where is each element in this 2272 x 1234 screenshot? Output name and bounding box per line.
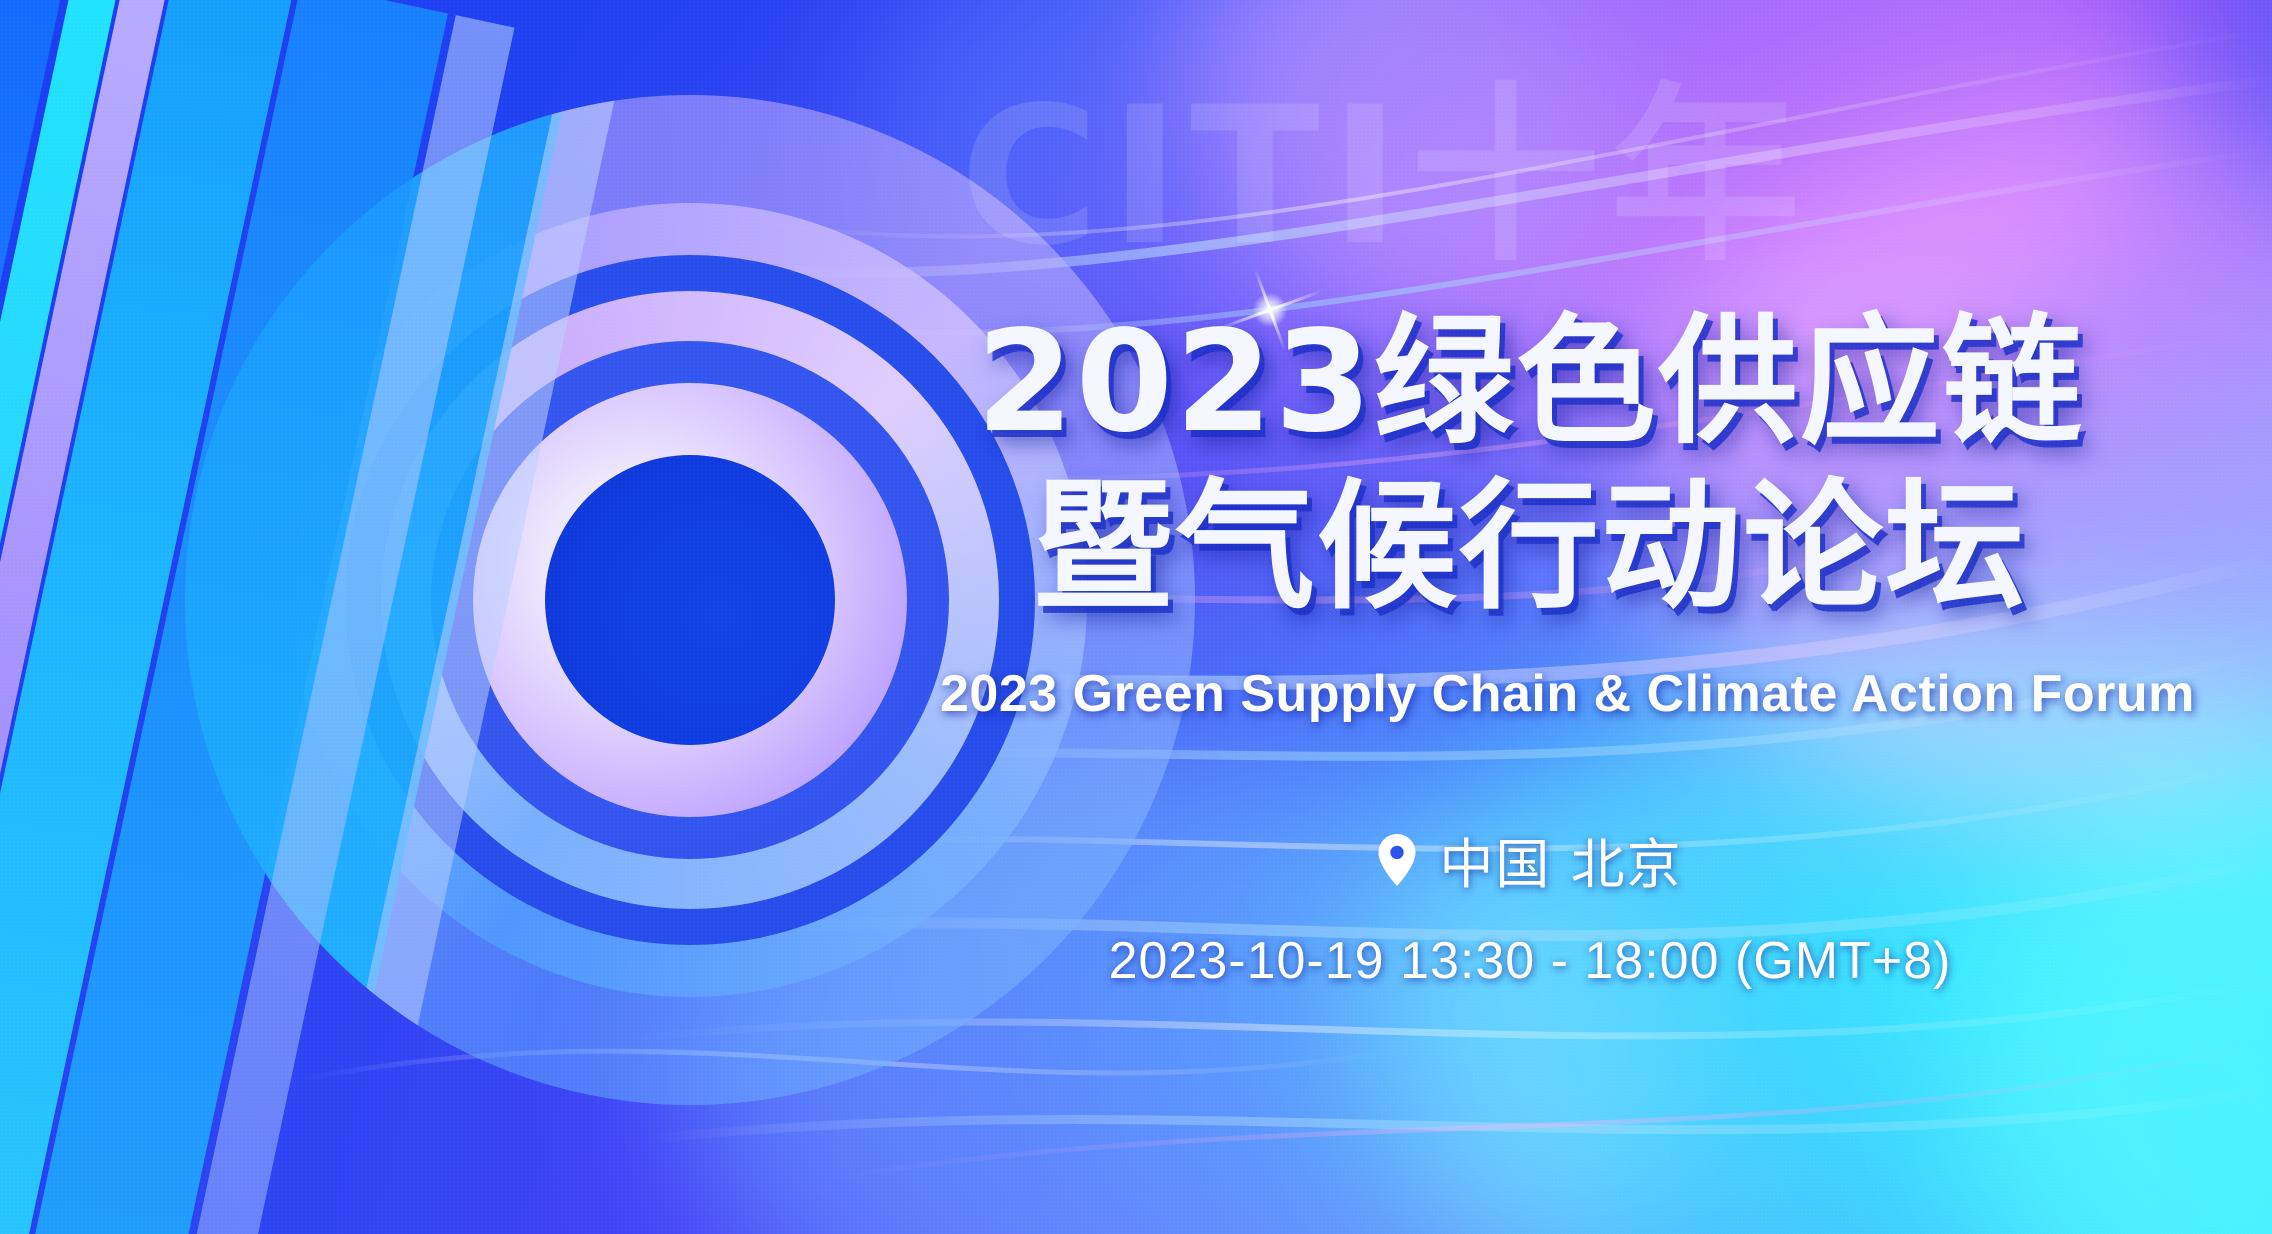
venue-label: 中国 北京 bbox=[1439, 820, 1682, 899]
page-title-line-1: 2023绿色供应链 bbox=[940, 300, 2120, 465]
page-subtitle: 2023 Green Supply Chain & Climate Action… bbox=[940, 664, 2120, 724]
event-datetime: 2023-10-19 13:30 - 18:00 (GMT+8) bbox=[940, 931, 2120, 991]
page-title-line-2: 暨气候行动论坛 bbox=[940, 465, 2120, 630]
poster-content: 2023绿色供应链 暨气候行动论坛 2023 Green Supply Chai… bbox=[940, 300, 2120, 991]
event-meta: 中国 北京 2023-10-19 13:30 - 18:00 (GMT+8) bbox=[940, 820, 2120, 991]
map-pin-icon bbox=[1377, 834, 1417, 886]
event-poster: CITI十年 2023绿色供应链 暨气候行动论坛 2023 Green Supp… bbox=[0, 0, 2272, 1234]
watermark-text: CITI十年 bbox=[960, 82, 1810, 272]
venue-row: 中国 北京 bbox=[940, 820, 2120, 899]
